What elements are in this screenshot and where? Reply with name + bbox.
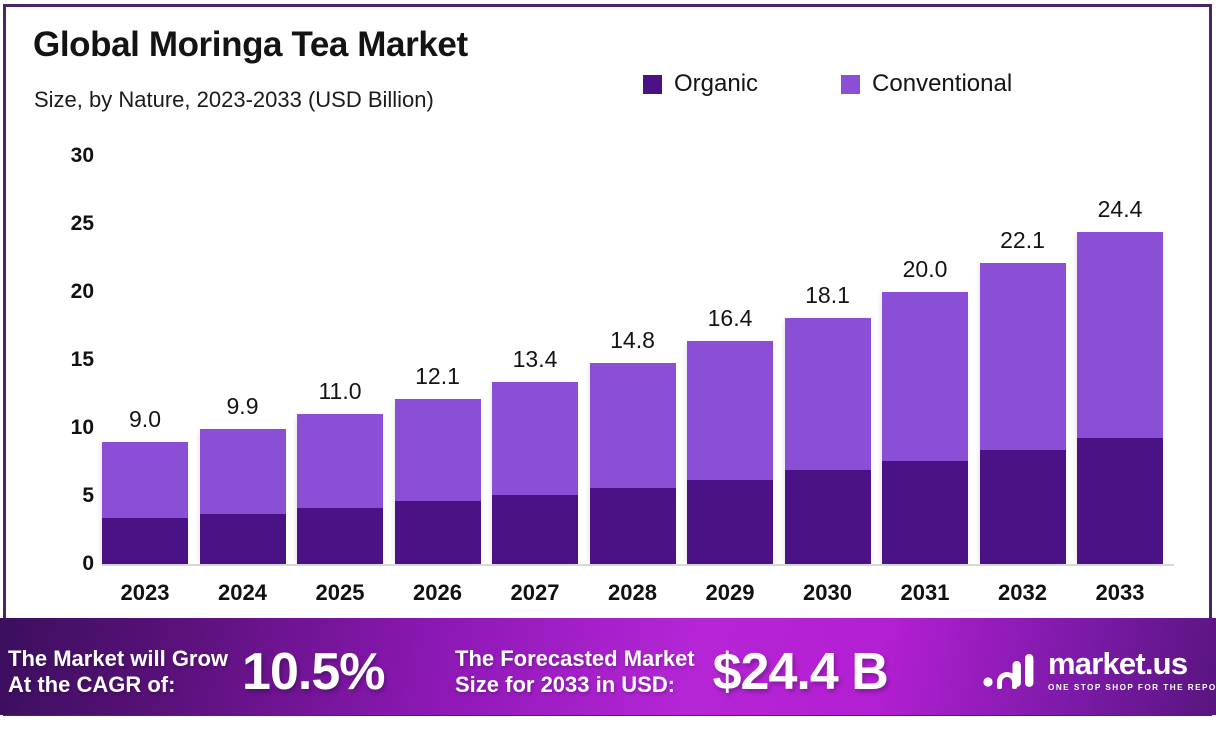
bar-segment-conventional[interactable]: [590, 363, 676, 488]
bar-segment-organic[interactable]: [492, 495, 578, 564]
forecast-stat-block: The Forecasted Market Size for 2033 in U…: [455, 642, 888, 702]
stats-banner: The Market will Grow At the CAGR of: 10.…: [0, 618, 1216, 715]
bar-group[interactable]: 11.0: [297, 137, 383, 564]
bar-group[interactable]: 13.4: [492, 137, 578, 564]
bar-group[interactable]: 12.1: [395, 137, 481, 564]
stacked-bar[interactable]: [980, 263, 1066, 564]
plot-area: 051015202530 9.09.911.012.113.414.816.41…: [6, 7, 1209, 617]
chart-frame: Global Moringa Tea Market Size, by Natur…: [3, 4, 1212, 716]
bar-total-label: 13.4: [513, 346, 558, 373]
cagr-stat-block: The Market will Grow At the CAGR of: 10.…: [8, 642, 385, 702]
bar-segment-organic[interactable]: [590, 488, 676, 564]
market-us-bars-icon: [983, 651, 1037, 689]
infographic-root: Global Moringa Tea Market Size, by Natur…: [0, 0, 1216, 737]
stacked-bar[interactable]: [590, 363, 676, 564]
x-axis-label-2032: 2032: [980, 580, 1066, 606]
stacked-bar[interactable]: [882, 292, 968, 564]
logo-text: market.us ONE STOP SHOP FOR THE REPORTS: [1048, 648, 1216, 692]
bar-segment-organic[interactable]: [687, 480, 773, 564]
bar-segment-conventional[interactable]: [882, 292, 968, 461]
bar-segment-organic[interactable]: [297, 508, 383, 564]
bar-group[interactable]: 22.1: [980, 137, 1066, 564]
bar-segment-conventional[interactable]: [200, 429, 286, 513]
x-axis-label-2030: 2030: [785, 580, 871, 606]
y-axis: 051015202530: [34, 127, 94, 577]
cagr-caption: The Market will Grow At the CAGR of:: [8, 646, 228, 697]
bar-segment-organic[interactable]: [102, 518, 188, 564]
x-axis-label-2026: 2026: [395, 580, 481, 606]
bar-total-label: 22.1: [1000, 227, 1045, 254]
market-us-logo[interactable]: market.us ONE STOP SHOP FOR THE REPORTS: [983, 648, 1216, 692]
bar-total-label: 12.1: [415, 363, 460, 390]
bar-segment-conventional[interactable]: [687, 341, 773, 480]
y-axis-tick-5: 5: [82, 484, 94, 508]
bar-segment-organic[interactable]: [980, 450, 1066, 564]
forecast-caption-line2: Size for 2033 in USD:: [455, 672, 695, 698]
bar-group[interactable]: 14.8: [590, 137, 676, 564]
bar-segment-conventional[interactable]: [785, 318, 871, 470]
bar-segment-organic[interactable]: [882, 461, 968, 564]
stacked-bar[interactable]: [1077, 232, 1163, 564]
bar-segment-conventional[interactable]: [1077, 232, 1163, 437]
x-axis-label-2033: 2033: [1077, 580, 1163, 606]
bar-segment-organic[interactable]: [1077, 438, 1163, 564]
cagr-caption-line2: At the CAGR of:: [8, 672, 228, 698]
bar-total-label: 18.1: [805, 282, 850, 309]
bar-total-label: 9.0: [129, 406, 161, 433]
bar-segment-organic[interactable]: [200, 514, 286, 564]
y-axis-tick-30: 30: [71, 144, 94, 168]
bar-segment-organic[interactable]: [395, 501, 481, 564]
bar-group[interactable]: 24.4: [1077, 137, 1163, 564]
bar-total-label: 16.4: [708, 305, 753, 332]
bar-total-label: 24.4: [1098, 196, 1143, 223]
stacked-bar[interactable]: [297, 414, 383, 564]
y-axis-tick-15: 15: [71, 348, 94, 372]
stacked-bar[interactable]: [785, 318, 871, 564]
y-axis-tick-10: 10: [71, 416, 94, 440]
x-axis-line: [102, 564, 1174, 566]
bar-segment-conventional[interactable]: [297, 414, 383, 508]
bar-segment-organic[interactable]: [785, 470, 871, 564]
forecast-caption: The Forecasted Market Size for 2033 in U…: [455, 646, 695, 697]
x-axis-label-2025: 2025: [297, 580, 383, 606]
x-axis-label-2028: 2028: [590, 580, 676, 606]
forecast-caption-line1: The Forecasted Market: [455, 646, 695, 672]
x-axis-label-2031: 2031: [882, 580, 968, 606]
forecast-value: $24.4 B: [713, 642, 888, 702]
bar-total-label: 20.0: [903, 256, 948, 283]
x-axis-label-2024: 2024: [200, 580, 286, 606]
bar-group[interactable]: 20.0: [882, 137, 968, 564]
cagr-caption-line1: The Market will Grow: [8, 646, 228, 672]
x-axis-label-2027: 2027: [492, 580, 578, 606]
stacked-bar[interactable]: [687, 341, 773, 564]
logo-name: market.us: [1048, 648, 1216, 679]
bar-segment-conventional[interactable]: [980, 263, 1066, 449]
stacked-bar[interactable]: [200, 429, 286, 564]
logo-tagline: ONE STOP SHOP FOR THE REPORTS: [1048, 683, 1216, 692]
stacked-bar[interactable]: [102, 442, 188, 564]
bar-segment-conventional[interactable]: [395, 399, 481, 501]
cagr-value: 10.5%: [242, 642, 384, 702]
y-axis-tick-20: 20: [71, 280, 94, 304]
x-axis-label-2029: 2029: [687, 580, 773, 606]
bar-segment-conventional[interactable]: [102, 442, 188, 518]
bar-segment-conventional[interactable]: [492, 382, 578, 495]
bar-group[interactable]: 9.0: [102, 137, 188, 564]
stacked-bar[interactable]: [395, 399, 481, 564]
bar-group[interactable]: 9.9: [200, 137, 286, 564]
bar-group[interactable]: 18.1: [785, 137, 871, 564]
bar-group[interactable]: 16.4: [687, 137, 773, 564]
y-axis-tick-25: 25: [71, 212, 94, 236]
y-axis-tick-0: 0: [82, 552, 94, 576]
bar-series-container: 9.09.911.012.113.414.816.418.120.022.124…: [102, 137, 1174, 564]
stacked-bar[interactable]: [492, 382, 578, 564]
bar-total-label: 11.0: [318, 378, 361, 405]
bar-total-label: 9.9: [227, 393, 259, 420]
x-axis-label-2023: 2023: [102, 580, 188, 606]
bar-total-label: 14.8: [610, 327, 655, 354]
